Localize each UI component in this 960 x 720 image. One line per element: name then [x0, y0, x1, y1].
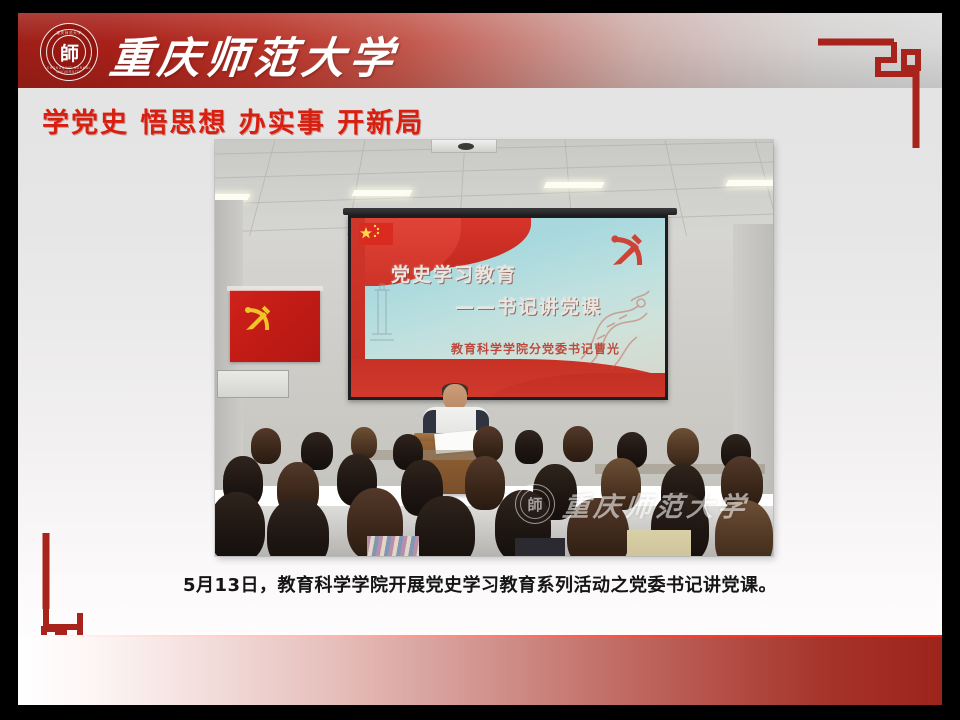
footer-top-line — [18, 635, 942, 637]
audience-head — [567, 498, 629, 556]
flag-hanger — [227, 286, 323, 291]
china-flag-icon — [359, 223, 393, 245]
projected-subtitle: 教育科学学院分党委书记曹光 — [451, 340, 620, 357]
audience-clothing — [515, 538, 565, 556]
presentation-slide-root: 重庆师范大学 師 CHONGQING NORMAL UNIVERSITY 重庆师… — [0, 0, 960, 720]
audience-head — [251, 428, 281, 464]
audience-area — [215, 426, 773, 556]
university-seal-icon: 重庆师范大学 師 CHONGQING NORMAL UNIVERSITY — [40, 23, 98, 81]
audience-clothing — [367, 536, 419, 556]
slide-canvas: 重庆师范大学 師 CHONGQING NORMAL UNIVERSITY 重庆师… — [18, 13, 942, 705]
audience-clothing — [627, 530, 691, 556]
hammer-sickle-icon — [240, 304, 274, 336]
corner-ornament-top-right-icon — [816, 30, 926, 150]
projected-title-line2: ——书记讲党课 — [455, 292, 602, 319]
university-name: 重庆师范大学 — [107, 24, 402, 86]
screen-roller — [343, 208, 677, 215]
audience-head — [515, 430, 543, 464]
ceiling-light — [544, 182, 605, 188]
slogan-text: 学党史 悟思想 办实事 开新局 — [42, 101, 424, 140]
projection-screen: 党史学习教育 ——书记讲党课 教育科学学院分党委书记曹光 — [348, 215, 668, 400]
desk-row — [365, 450, 485, 460]
slide-hammer-sickle-icon — [605, 232, 647, 272]
audience-head — [465, 456, 505, 510]
audience-head — [667, 428, 699, 466]
audience-head — [267, 498, 329, 556]
projected-title-line1: 党史学习教育 — [391, 260, 517, 287]
projected-slide: 党史学习教育 ——书记讲党课 教育科学学院分党委书记曹光 — [351, 218, 665, 397]
party-flag — [230, 290, 320, 362]
header-banner: 重庆师范大学 師 CHONGQING NORMAL UNIVERSITY 重庆师… — [18, 13, 942, 88]
ceiling-light — [726, 180, 773, 186]
projector-icon — [431, 140, 497, 153]
ceiling-light — [352, 190, 413, 196]
audience-head — [415, 496, 475, 556]
audience-head — [563, 426, 593, 462]
event-photo: 党史学习教育 ——书记讲党课 教育科学学院分党委书记曹光 — [215, 140, 773, 556]
monument-illustration — [369, 280, 395, 348]
wall-panel — [217, 370, 289, 398]
event-photo-frame: 党史学习教育 ——书记讲党课 教育科学学院分党委书记曹光 — [215, 140, 773, 556]
audience-head — [215, 492, 265, 556]
footer-banner — [18, 635, 942, 705]
seal-micro-text-bottom: CHONGQING NORMAL UNIVERSITY — [41, 66, 97, 74]
photo-caption: 5月13日，教育科学学院开展党史学习教育系列活动之党委书记讲党课。 — [18, 571, 942, 597]
